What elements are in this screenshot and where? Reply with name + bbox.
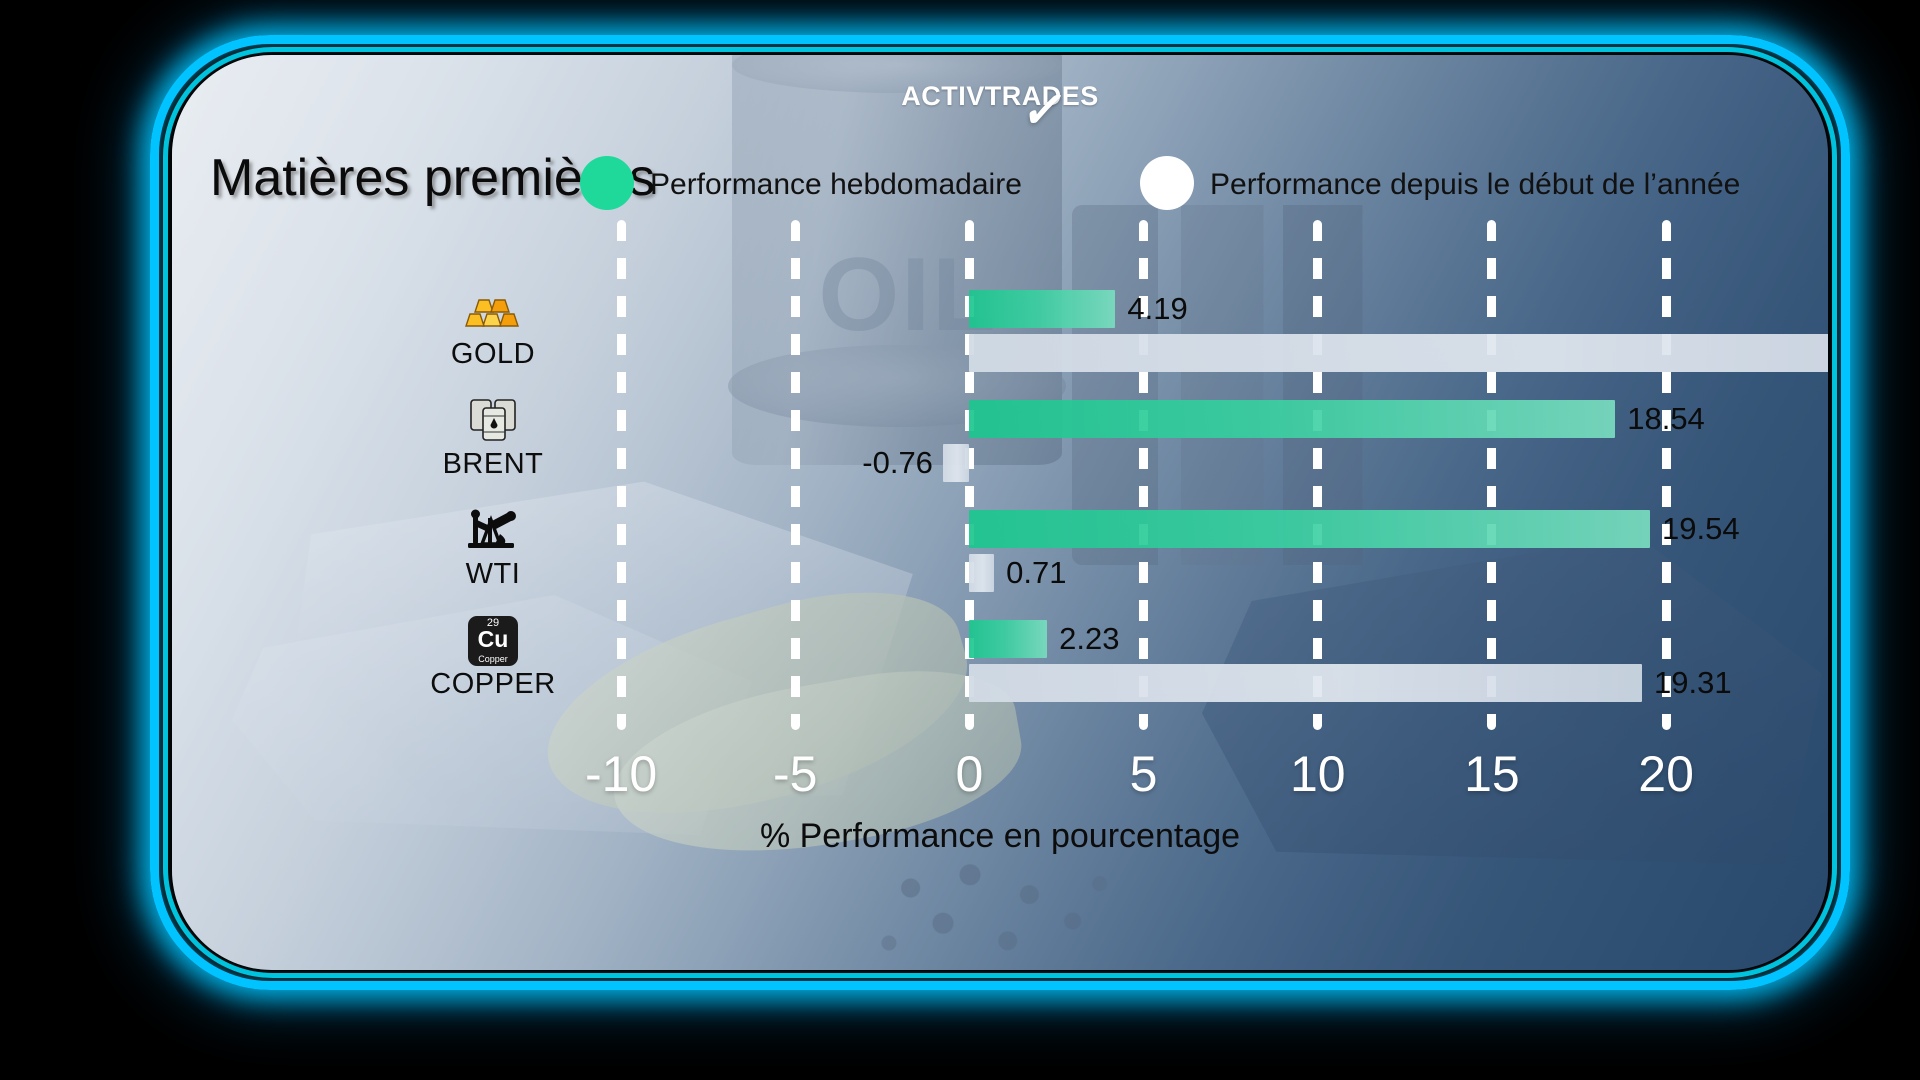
bar-brent-weekly[interactable] [969, 400, 1615, 438]
legend-item-weekly: Performance hebdomadaire [650, 168, 1022, 202]
x-axis-tick-label: 10 [1258, 745, 1378, 803]
bar-value-copper-ytd: 19.31 [1654, 664, 1732, 702]
bar-value-wti-ytd: 0.71 [1006, 554, 1066, 592]
x-axis-tick-label: 5 [1084, 745, 1204, 803]
gridline [1313, 220, 1322, 730]
bar-copper-ytd[interactable] [969, 664, 1642, 702]
gridline [1662, 220, 1671, 730]
logo-checkmark-icon: ✓ [979, 81, 1111, 139]
white-circle-icon [1140, 156, 1194, 210]
activtrades-logo: ACTIV✓TRADES [172, 81, 1828, 112]
bar-copper-weekly[interactable] [969, 620, 1047, 658]
x-axis-tick-label: 0 [909, 745, 1029, 803]
category-label-wti: WTI [383, 558, 603, 591]
x-axis-tick-label: -5 [735, 745, 855, 803]
bar-gold-weekly[interactable] [969, 290, 1115, 328]
oil-pumpjack-icon [447, 504, 539, 561]
gold-bars-icon [447, 284, 539, 339]
category-label-copper: COPPER [383, 668, 603, 701]
bar-wti-weekly[interactable] [969, 510, 1650, 548]
category-label-gold: GOLD [383, 338, 603, 371]
bar-wti-ytd[interactable] [969, 554, 994, 592]
copper-element-tile: 29CuCopper [468, 616, 518, 666]
logo-text-activ: ACTIV [901, 81, 985, 111]
gridline [1487, 220, 1496, 730]
x-axis-title: % Performance en pourcentage [172, 817, 1828, 856]
chart-plot-area: GOLD4.1930.59BRENT18.54-0.76WTI19.540.71… [172, 220, 1828, 730]
bar-value-wti-weekly: 19.54 [1662, 510, 1740, 548]
infographic-card: OIL ACTIV✓TRADES Matières premières Perf… [172, 55, 1828, 970]
copper-element-icon: 29CuCopper [447, 614, 539, 666]
bar-gold-ytd[interactable] [969, 334, 1828, 372]
legend-item-ytd: Performance depuis le début de l’année [1210, 168, 1740, 202]
gridline [617, 220, 626, 730]
oil-barrels-icon [447, 394, 539, 453]
chart-header: Matières premières Performance hebdomada… [172, 150, 1828, 220]
bar-value-brent-weekly: 18.54 [1627, 400, 1705, 438]
bar-value-brent-ytd: -0.76 [733, 444, 933, 482]
bar-value-copper-weekly: 2.23 [1059, 620, 1119, 658]
bar-brent-ytd[interactable] [943, 444, 969, 482]
bar-value-gold-weekly: 4.19 [1127, 290, 1187, 328]
green-circle-icon [580, 156, 634, 210]
chart-x-axis: % Performance en pourcentage -10-5051015… [172, 745, 1828, 885]
x-axis-tick-label: -10 [561, 745, 681, 803]
x-axis-tick-label: 15 [1432, 745, 1552, 803]
x-axis-tick-label: 20 [1606, 745, 1726, 803]
category-label-brent: BRENT [383, 448, 603, 481]
